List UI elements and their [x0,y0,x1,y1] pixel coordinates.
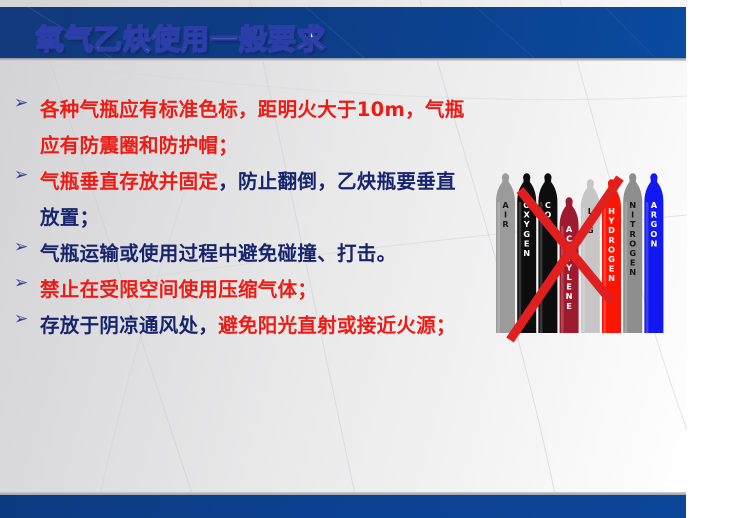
gas-cylinder: AIR [496,173,515,333]
title-banner: 氧气乙炔使用一般要求 [0,7,686,58]
list-item-text: 气瓶垂直存放并固定，防止翻倒，乙炔瓶要垂直放置； [40,164,474,236]
cylinder-label: ARGON [650,200,657,248]
list-item-text: 各种气瓶应有标准色标，距明火大于10m，气瓶应有防震圈和防护帽； [40,92,474,164]
gas-cylinders-image: AIROXYGENCO2ACETYLENELPGHYDROGENNITROGEN… [478,150,678,350]
arrow-bullet-icon: ➢ [14,308,40,328]
bullet-list: ➢ 各种气瓶应有标准色标，距明火大于10m，气瓶应有防震圈和防护帽； ➢ 气瓶垂… [14,92,474,344]
list-item-text: 气瓶运输或使用过程中避免碰撞、打击。 [40,236,474,272]
gas-cylinder: NITROGEN [623,173,642,333]
text-segment: 避免阳光直射或接近火源； [218,314,456,337]
footer-bar [0,495,686,518]
arrow-bullet-icon: ➢ [14,164,40,184]
gas-cylinder: ARGON [644,173,663,333]
gas-cylinders-svg: AIROXYGENCO2ACETYLENELPGHYDROGENNITROGEN… [478,150,678,350]
list-item: ➢ 各种气瓶应有标准色标，距明火大于10m，气瓶应有防震圈和防护帽； [14,92,474,164]
text-segment: 禁止在受限空间使用压缩气体； [40,278,317,301]
arrow-bullet-icon: ➢ [14,236,40,256]
cylinder-label: OXYGEN [523,200,531,258]
list-item-text: 禁止在受限空间使用压缩气体； [40,272,474,308]
header-underline-divider [0,58,686,61]
cylinder-label: ACETYLENE [565,224,573,311]
text-segment: 各种气瓶应有标准色标，距明火大于10m [40,98,405,121]
list-item: ➢ 气瓶运输或使用过程中避免碰撞、打击。 [14,236,474,272]
arrow-bullet-icon: ➢ [14,272,40,292]
text-segment: 气瓶垂直存放并固定 [40,170,218,193]
list-item: ➢ 气瓶垂直存放并固定，防止翻倒，乙炔瓶要垂直放置； [14,164,474,236]
arrow-bullet-icon: ➢ [14,92,40,112]
gas-cylinder: CO2 [538,173,557,333]
text-segment: 存放于阴凉通风处， [40,314,218,337]
gas-cylinder: LPG [581,179,600,333]
list-item: ➢ 存放于阴凉通风处，避免阳光直射或接近火源； [14,308,474,344]
slide-canvas: 氧气乙炔使用一般要求 ➢ 各种气瓶应有标准色标，距明火大于10m，气瓶应有防震圈… [0,0,687,518]
page-title: 氧气乙炔使用一般要求 [36,18,326,58]
list-item: ➢ 禁止在受限空间使用压缩气体； [14,272,474,308]
text-segment: 气瓶运输或使用过程中避免碰撞、打击。 [40,242,396,265]
list-item-text: 存放于阴凉通风处，避免阳光直射或接近火源； [40,308,474,344]
